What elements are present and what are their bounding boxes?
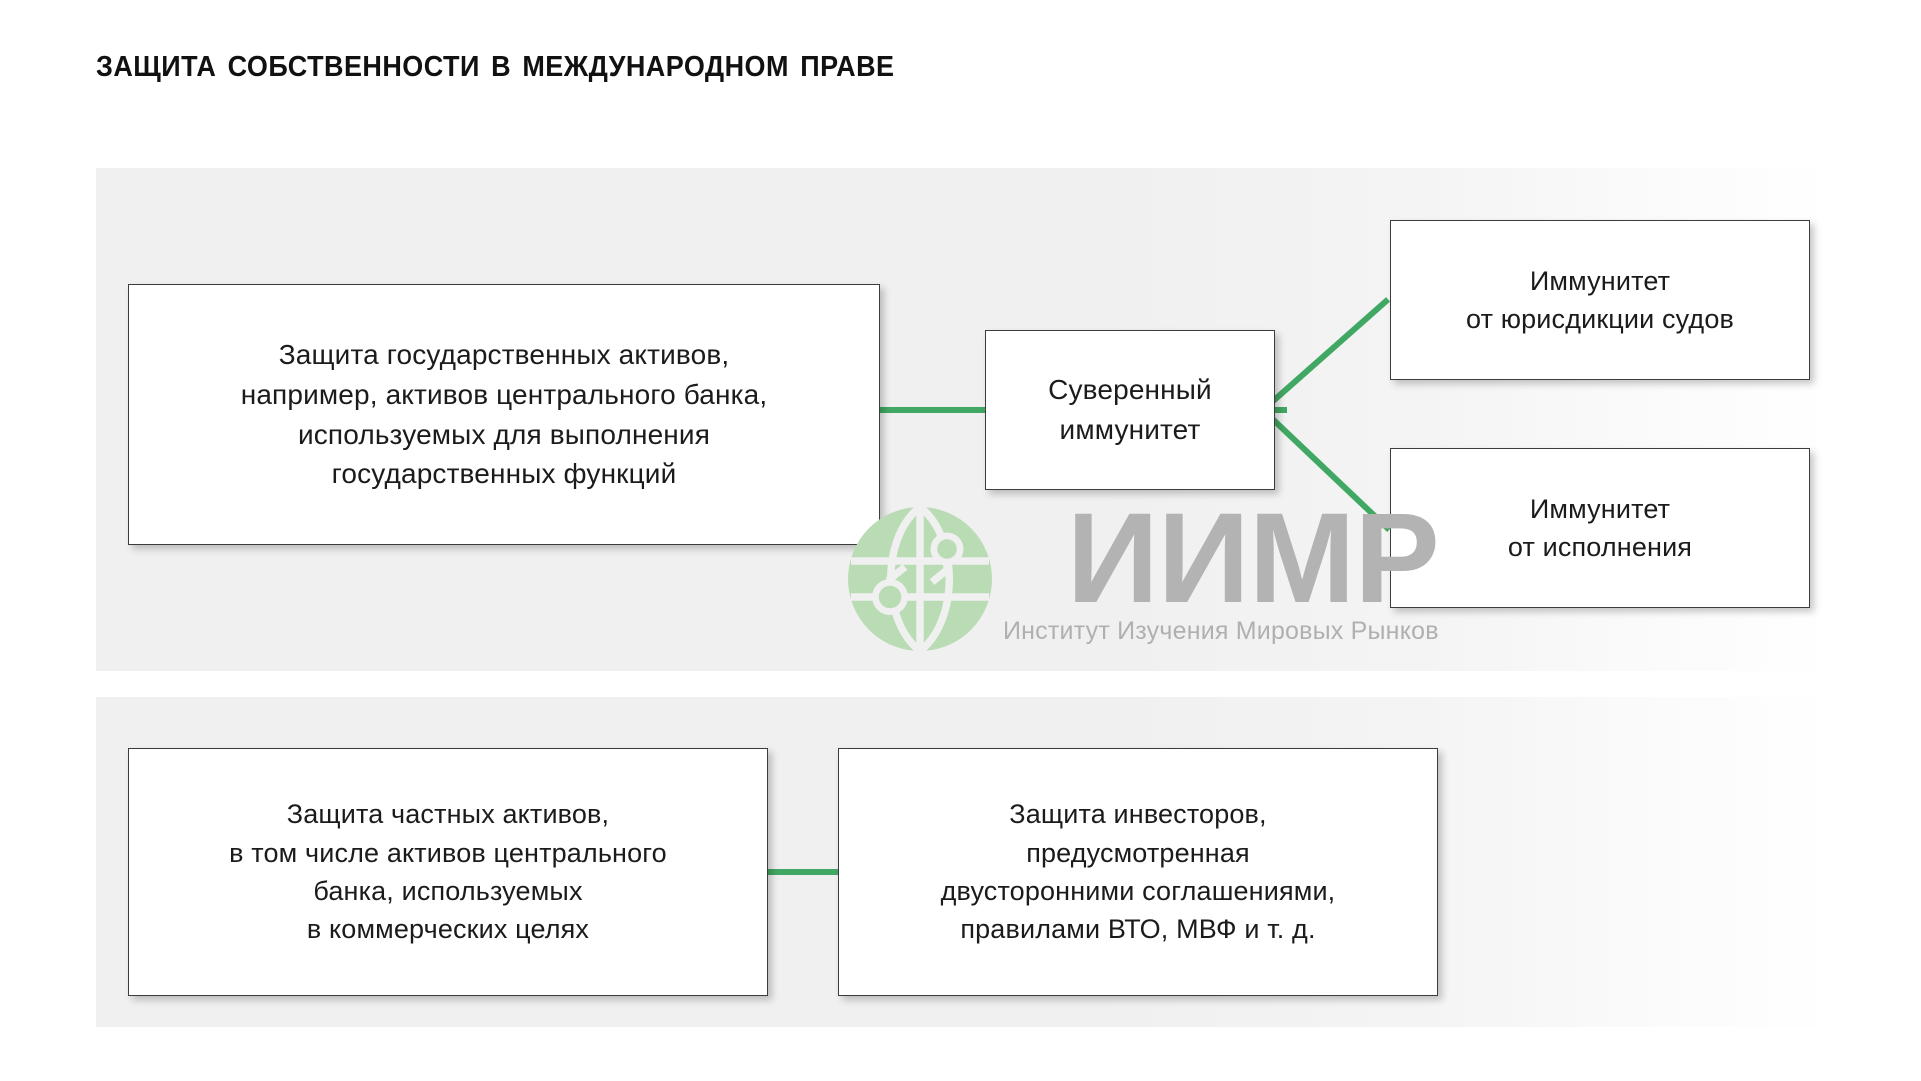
node-investor-protection-label: Защита инвесторов, предусмотренная двуст… <box>927 795 1350 948</box>
connector-state-assets-to-sovereign <box>878 407 988 413</box>
node-private-assets-label: Защита частных активов, в том числе акти… <box>215 795 681 948</box>
node-immunity-execution[interactable]: Иммунитет от исполнения <box>1390 448 1810 608</box>
node-immunity-jurisdiction-label: Иммунитет от юрисдикции судов <box>1452 262 1748 339</box>
node-investor-protection[interactable]: Защита инвесторов, предусмотренная двуст… <box>838 748 1438 996</box>
node-state-assets[interactable]: Защита государственных активов, например… <box>128 284 880 545</box>
node-sovereign-immunity-label: Суверенный иммунитет <box>1034 370 1226 450</box>
node-private-assets[interactable]: Защита частных активов, в том числе акти… <box>128 748 768 996</box>
node-state-assets-label: Защита государственных активов, например… <box>227 335 782 494</box>
node-sovereign-immunity[interactable]: Суверенный иммунитет <box>985 330 1275 490</box>
page-title: Защита собственности в международном пра… <box>96 38 895 86</box>
node-immunity-jurisdiction[interactable]: Иммунитет от юрисдикции судов <box>1390 220 1810 380</box>
connector-sovereign-junction-stub <box>1273 407 1287 413</box>
node-immunity-execution-label: Иммунитет от исполнения <box>1494 490 1706 567</box>
connector-private-assets-to-investor-protection <box>766 869 840 875</box>
